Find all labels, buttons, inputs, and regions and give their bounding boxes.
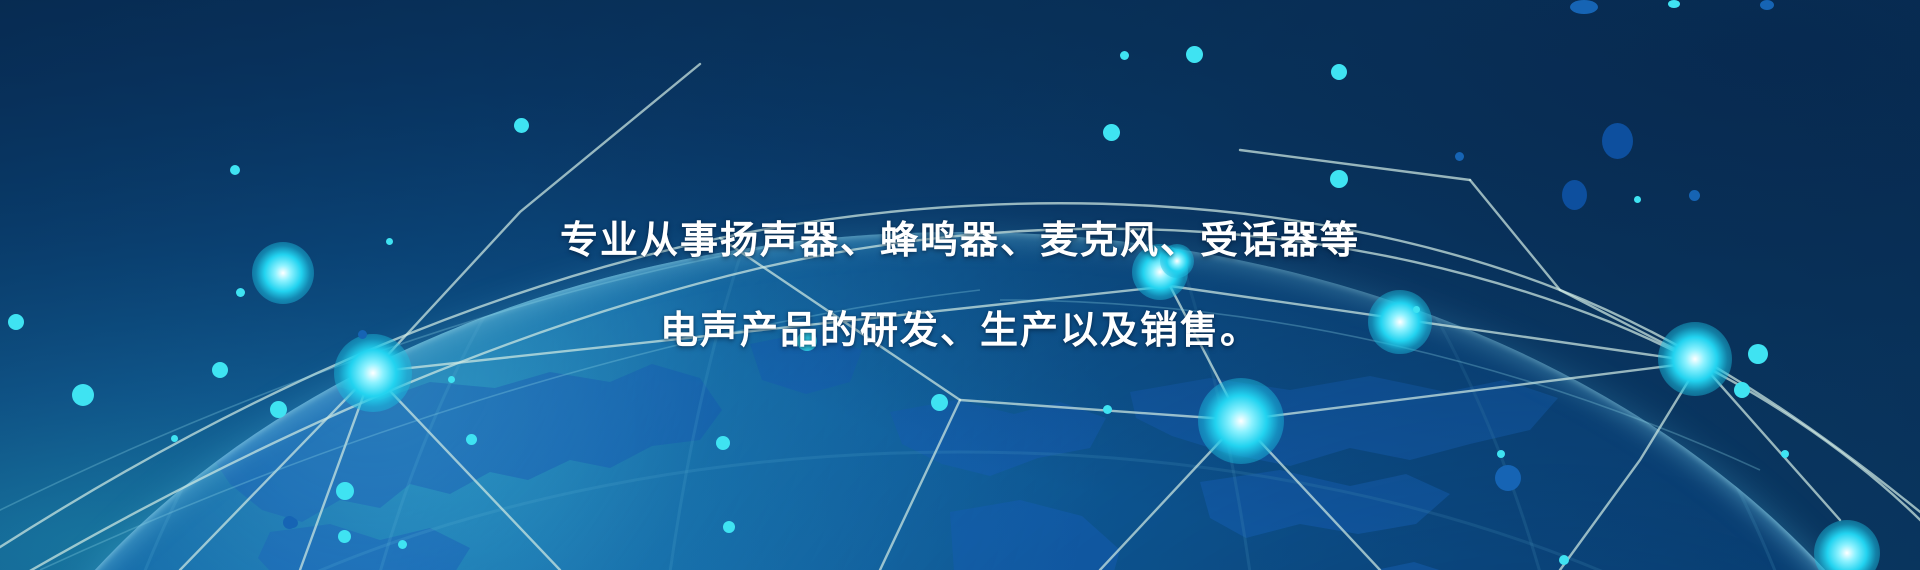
headline: 专业从事扬声器、蜂鸣器、麦克风、受话器等 电声产品的研发、生产以及销售。 <box>0 196 1920 376</box>
particle-dot <box>1331 64 1347 80</box>
particle-dot <box>1734 382 1750 398</box>
particle-dot <box>716 436 730 450</box>
hero-banner: 专业从事扬声器、蜂鸣器、麦克风、受话器等 电声产品的研发、生产以及销售。 <box>0 0 1920 570</box>
particle-dot <box>72 384 94 406</box>
particle-dot <box>1120 51 1129 60</box>
particle-dot <box>338 530 351 543</box>
particle-dot <box>270 401 287 418</box>
particle-dot <box>398 540 407 549</box>
headline-line-1: 专业从事扬声器、蜂鸣器、麦克风、受话器等 <box>0 196 1920 286</box>
network-node <box>1198 378 1284 464</box>
particle-dot <box>230 165 240 175</box>
particle-dot <box>1781 450 1789 458</box>
particle-dot <box>1186 46 1203 63</box>
particle-dot <box>171 435 178 442</box>
particle-dot <box>514 118 529 133</box>
headline-line-2: 电声产品的研发、生产以及销售。 <box>0 286 1920 376</box>
particle-dot <box>1559 555 1569 565</box>
particle-dot <box>723 521 735 533</box>
particle-dot <box>1103 124 1120 141</box>
particle-dot <box>1570 0 1598 14</box>
particle-dot <box>1455 152 1464 161</box>
particle-dot <box>1497 450 1505 458</box>
particle-dot <box>1668 0 1680 8</box>
particle-dot <box>448 376 455 383</box>
particle-dot <box>1602 123 1633 159</box>
particle-dot <box>931 394 948 411</box>
particle-dot <box>1495 465 1521 491</box>
particle-dot <box>336 482 354 500</box>
particle-dot <box>466 434 477 445</box>
particle-dot <box>1330 170 1348 188</box>
particle-dot <box>1103 405 1112 414</box>
particle-dot <box>1760 0 1774 10</box>
particle-dot <box>288 518 298 528</box>
